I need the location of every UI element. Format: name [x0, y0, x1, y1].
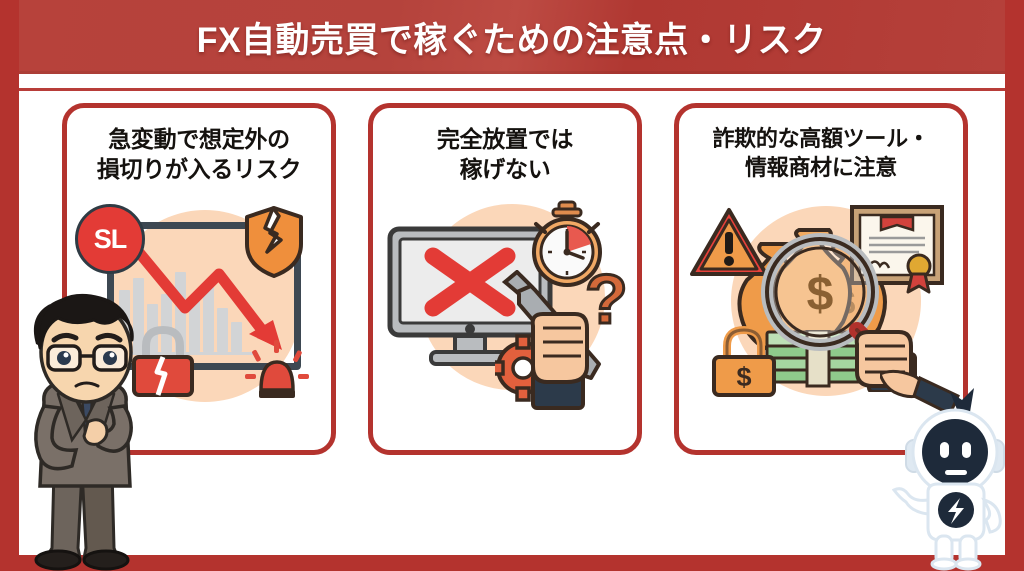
sl-badge-label: SL — [94, 224, 127, 255]
card-2-title-line-1: 完全放置では — [379, 124, 631, 154]
alarm-siren-icon — [245, 334, 309, 400]
card-1-title: 急変動で想定外の 損切りが入るリスク — [67, 124, 331, 185]
card-2-illustration: ? — [373, 204, 637, 450]
sl-badge-icon: SL — [75, 204, 145, 274]
header-separator-line — [19, 88, 1005, 91]
svg-text:$: $ — [807, 268, 834, 321]
card-1-title-line-2: 損切りが入るリスク — [73, 154, 325, 184]
svg-text:$: $ — [736, 362, 751, 392]
card-3-title: 詐欺的な高額ツール・ 情報商材に注意 — [679, 124, 963, 182]
infographic-root: FX自動売買で稼ぐための注意点・リスク 急変動で想定外の 損切りが入るリスク — [0, 0, 1024, 571]
card-3-title-line-1: 詐欺的な高額ツール・ — [685, 124, 957, 153]
card-2-title: 完全放置では 稼げない — [373, 124, 637, 185]
hand-wrench-icon — [495, 270, 625, 410]
card-1-title-line-1: 急変動で想定外の — [73, 124, 325, 154]
broken-shield-icon — [243, 206, 305, 278]
card-3-title-line-2: 情報商材に注意 — [685, 153, 957, 182]
page-title: FX自動売買で稼ぐための注意点・リスク — [197, 12, 827, 63]
risk-card-2[interactable]: 完全放置では 稼げない — [368, 103, 642, 455]
hand-icon — [533, 314, 587, 408]
businessman-mascot — [2, 290, 172, 571]
robot-mascot — [892, 386, 1020, 571]
header-banner: FX自動売買で稼ぐための注意点・リスク — [19, 0, 1005, 74]
card-2-title-line-2: 稼げない — [379, 154, 631, 184]
